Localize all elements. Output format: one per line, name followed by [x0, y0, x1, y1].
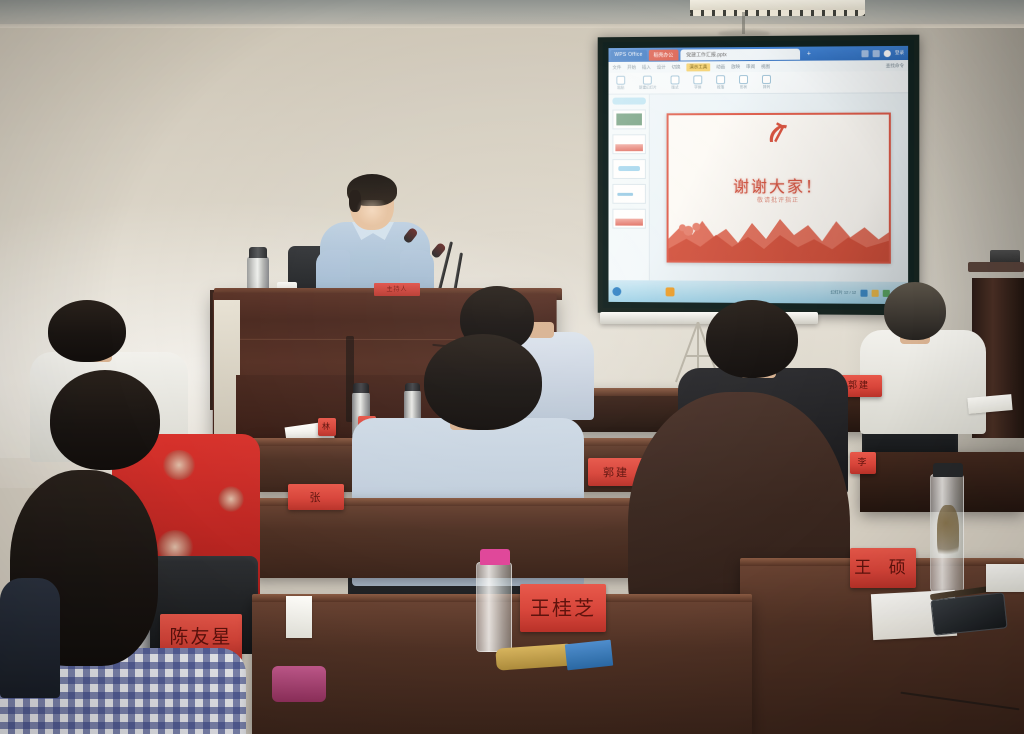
- ribbon-group-arrange[interactable]: 排列: [762, 75, 771, 90]
- left-white-head: [48, 300, 126, 362]
- center-attendee-head: [424, 334, 542, 430]
- current-slide[interactable]: 谢谢大家！ 敬请批评指正: [667, 112, 891, 263]
- pink-pouch: [272, 666, 326, 702]
- party-hammer-sickle-emblem: [765, 121, 791, 145]
- menu-item-review[interactable]: 审阅: [746, 64, 755, 70]
- speaker-face: [356, 200, 388, 226]
- find-command-label[interactable]: 查找命令: [886, 63, 904, 69]
- black-tshirt-head: [706, 300, 798, 378]
- slide-stage[interactable]: 谢谢大家！ 敬请批评指正: [650, 93, 908, 282]
- menu-item-transition[interactable]: 切换: [672, 64, 681, 70]
- ribbon-label-layout: 版式: [671, 85, 678, 90]
- ribbon-group-paragraph[interactable]: 段落: [716, 75, 725, 90]
- thumbnail-slide-5[interactable]: [612, 184, 645, 204]
- thumbnail-slide-3[interactable]: [612, 134, 645, 154]
- paste-icon: [616, 76, 625, 85]
- placard-small-4: 张: [288, 484, 344, 510]
- wps-user-label[interactable]: 登录: [895, 49, 904, 56]
- water-bottle: [476, 562, 512, 652]
- wps-ribbon: 粘贴 新建幻灯片 版式 字体 段落: [609, 71, 909, 95]
- bottle-cap-pink: [480, 549, 510, 565]
- table-front: [250, 500, 680, 578]
- podium-name-plaque: 主持人: [374, 283, 420, 296]
- papercut-mountains-graphic: [669, 204, 891, 261]
- sorter-view-icon[interactable]: [871, 289, 878, 296]
- slide-title: 谢谢大家！: [669, 172, 889, 196]
- right-attendee-head: [884, 282, 946, 340]
- ribbon-label-paste: 粘贴: [617, 86, 624, 91]
- thumbnail-slide-6[interactable]: [612, 209, 645, 229]
- font-icon: [693, 75, 702, 84]
- minimize-button[interactable]: [861, 50, 868, 57]
- placard-wang-guizhi: 王桂芝: [520, 584, 606, 632]
- paper-card-left: [286, 596, 312, 638]
- ribbon-label-new-slide: 新建幻灯片: [639, 86, 657, 91]
- menu-item-home[interactable]: 开始: [627, 64, 636, 70]
- ribbon-group-font[interactable]: 字体: [693, 75, 702, 90]
- projection-screen: WPS Office 稻壳办公 党建工作汇报.pptx + 登录 文件 开始 插…: [598, 35, 920, 316]
- layout-icon: [671, 75, 680, 84]
- placard-small-3: 李: [850, 452, 876, 474]
- blouse-motif-2: [218, 486, 244, 512]
- menu-item-view[interactable]: 视图: [761, 63, 770, 69]
- start-menu-icon[interactable]: [612, 287, 621, 296]
- arrange-icon: [762, 75, 771, 84]
- ribbon-label-shape: 形状: [740, 85, 747, 90]
- wps-tab-red[interactable]: 稻壳办公: [649, 49, 679, 60]
- window-controls: 登录: [861, 49, 908, 56]
- thumbnail-slide-4[interactable]: [612, 159, 645, 179]
- wps-tab-document[interactable]: 党建工作汇报.pptx: [680, 48, 800, 60]
- meeting-room-photo: WPS Office 稻壳办公 党建工作汇报.pptx + 登录 文件 开始 插…: [0, 0, 1024, 734]
- ribbon-label-font: 字体: [694, 85, 701, 90]
- wps-logo: WPS Office: [610, 50, 646, 60]
- placard-wang-ke: 王 硕: [850, 548, 916, 588]
- paper-right-front: [986, 564, 1024, 592]
- ribbon-group-shape[interactable]: 形状: [739, 75, 748, 90]
- new-slide-icon: [643, 76, 652, 85]
- menu-item-insert[interactable]: 插入: [642, 64, 651, 70]
- tumbler-cap: [933, 463, 963, 477]
- placard-small-1: 林: [318, 418, 336, 436]
- ribbon-group-paste[interactable]: 粘贴: [616, 76, 625, 91]
- maximize-button[interactable]: [873, 50, 880, 57]
- account-avatar-icon[interactable]: [884, 50, 891, 57]
- slide-subtitle: 敬请批评指正: [669, 194, 889, 203]
- menu-item-animation[interactable]: 动画: [716, 64, 725, 70]
- projected-desktop: WPS Office 稻壳办公 党建工作汇报.pptx + 登录 文件 开始 插…: [609, 46, 909, 304]
- taskbar-app-icon[interactable]: [666, 287, 675, 296]
- normal-view-icon[interactable]: [860, 289, 867, 296]
- red-blouse-head: [50, 370, 160, 470]
- slide-indicator: 幻灯片 12 / 12: [831, 289, 857, 295]
- slide-thumbnail-panel[interactable]: [609, 95, 650, 281]
- ceiling: [0, 0, 1024, 26]
- smartphone[interactable]: [930, 592, 1007, 636]
- wps-new-tab-button[interactable]: +: [802, 50, 816, 57]
- cabinet-top-surface: [968, 262, 1024, 272]
- paragraph-icon: [716, 75, 725, 84]
- thumbnail-slide-1[interactable]: [612, 98, 645, 105]
- ribbon-label-arrange: 排列: [763, 85, 770, 90]
- blue-book: [565, 640, 613, 671]
- menu-item-presentation-tools[interactable]: 演示工具: [686, 63, 710, 71]
- ribbon-label-paragraph: 段落: [717, 85, 724, 90]
- far-left-torso: [0, 578, 60, 698]
- blouse-motif-1: [162, 450, 196, 480]
- menu-item-design[interactable]: 设计: [657, 64, 666, 70]
- glass-tea-tumbler: [930, 474, 964, 592]
- menu-item-slideshow[interactable]: 放映: [731, 64, 740, 70]
- tea-leaves: [937, 505, 959, 565]
- ribbon-group-new-slide[interactable]: 新建幻灯片: [639, 76, 657, 91]
- thumbnail-slide-2[interactable]: [612, 109, 645, 129]
- menu-item-file[interactable]: 文件: [612, 64, 621, 70]
- ribbon-group-layout[interactable]: 版式: [671, 75, 680, 90]
- ceiling-light-fixture: [690, 0, 865, 16]
- shape-icon: [739, 75, 748, 84]
